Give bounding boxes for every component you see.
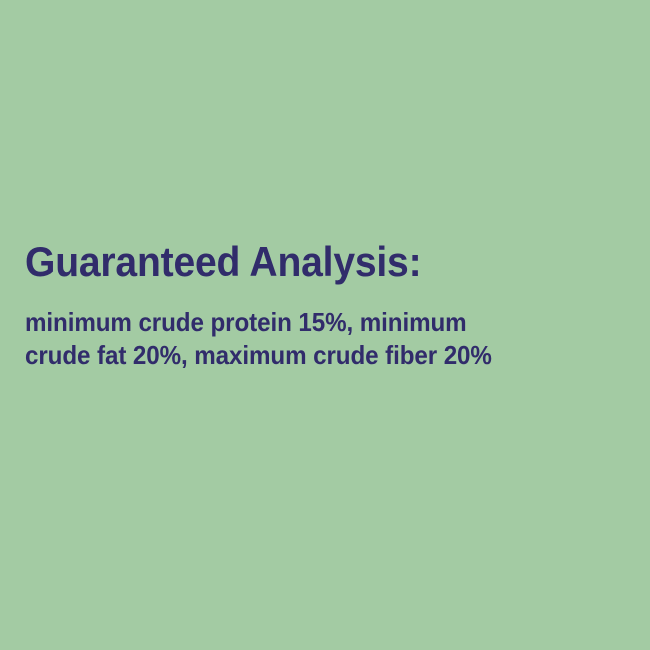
analysis-line-2: crude fat 20%, maximum crude fiber 20% — [25, 339, 592, 372]
guaranteed-analysis-heading: Guaranteed Analysis: — [25, 240, 592, 284]
nutrition-content-block: Guaranteed Analysis: minimum crude prote… — [25, 240, 635, 372]
guaranteed-analysis-panel: Guaranteed Analysis: minimum crude prote… — [0, 0, 650, 650]
analysis-line-1: minimum crude protein 15%, minimum — [25, 306, 592, 339]
guaranteed-analysis-body: minimum crude protein 15%, minimum crude… — [25, 306, 592, 372]
